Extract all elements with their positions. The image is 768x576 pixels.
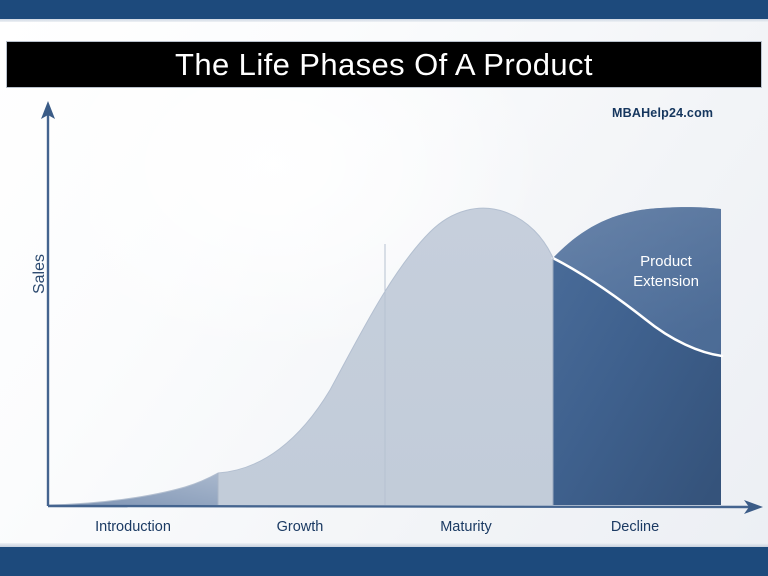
phase-label-decline: Decline [611,519,659,535]
phase-label-maturity: Maturity [440,519,492,535]
annotation-line-1: Product [600,252,732,272]
area-introduction [48,473,218,505]
bottom-accent-bar [0,547,768,576]
x-axis-line [48,506,752,507]
phase-label-growth: Growth [277,519,324,535]
annotation-line-2: Extension [600,272,732,292]
phase-label-introduction: Introduction [95,519,171,535]
slide-root: The Life Phases Of A Product MBAHelp24.c… [0,0,768,576]
product-extension-annotation: Product Extension [600,252,732,293]
